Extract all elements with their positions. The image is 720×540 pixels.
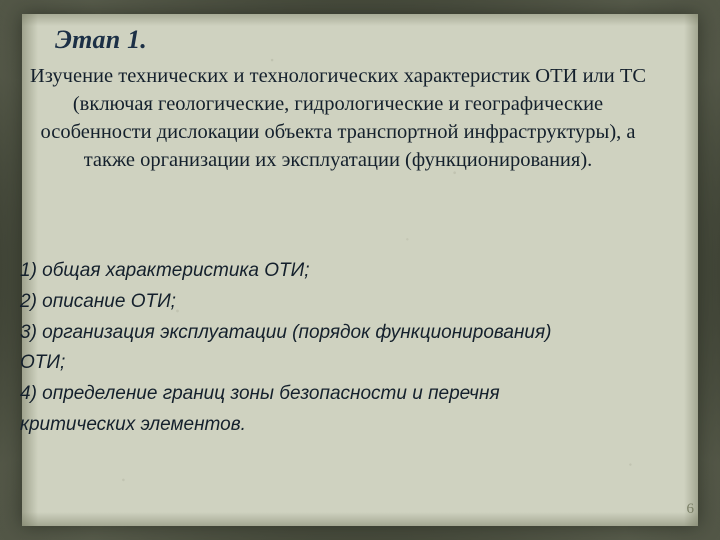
list-item: 3) организация эксплуатации (порядок фун… [20,318,580,380]
slide-number: 6 [687,501,695,518]
slide-canvas: Этап 1. Изучение технических и технологи… [0,0,720,540]
list-item: 4) определение границ зоны безопасности … [20,379,580,441]
list-item: 1) общая характеристика ОТИ; [20,256,580,287]
slide-paragraph: Изучение технических и технологических х… [22,62,654,174]
slide-title: Этап 1. [55,25,147,55]
slide-content: Этап 1. Изучение технических и технологи… [0,0,720,540]
list-item: 2) описание ОТИ; [20,287,580,318]
slide-list: 1) общая характеристика ОТИ; 2) описание… [20,256,580,441]
